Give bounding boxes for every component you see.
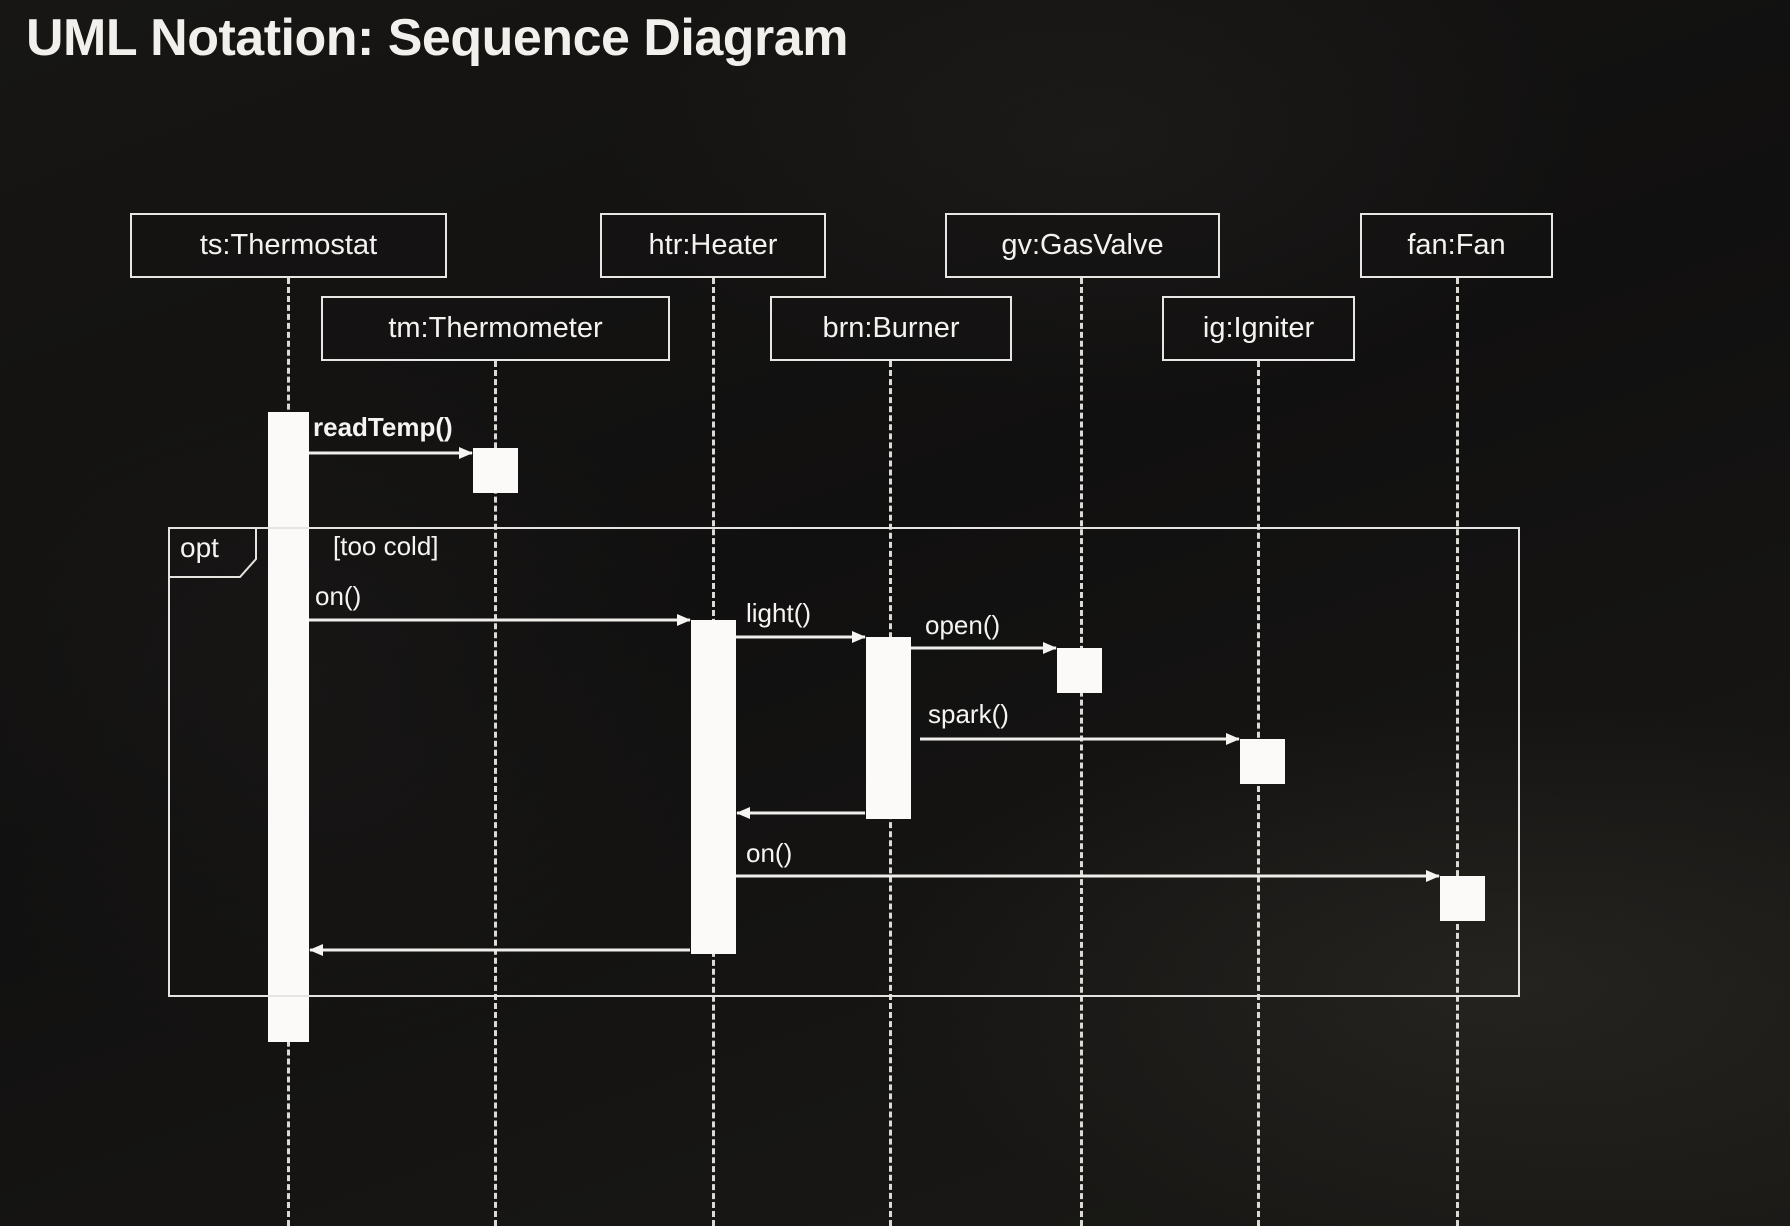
participant-box-fan[interactable]: fan:Fan bbox=[1360, 213, 1553, 278]
page-title: UML Notation: Sequence Diagram bbox=[26, 8, 848, 68]
participant-label-ts: ts:Thermostat bbox=[200, 229, 377, 262]
participant-box-htr[interactable]: htr:Heater bbox=[600, 213, 826, 278]
opt-fragment-frame bbox=[168, 527, 1520, 997]
participant-label-brn: brn:Burner bbox=[822, 312, 959, 345]
participant-box-ig[interactable]: ig:Igniter bbox=[1162, 296, 1355, 361]
participant-box-brn[interactable]: brn:Burner bbox=[770, 296, 1012, 361]
opt-fragment-operator: opt bbox=[180, 532, 219, 564]
opt-fragment-guard: [too cold] bbox=[333, 531, 439, 562]
participant-box-ts[interactable]: ts:Thermostat bbox=[130, 213, 447, 278]
participant-box-gv[interactable]: gv:GasValve bbox=[945, 213, 1220, 278]
participant-label-htr: htr:Heater bbox=[649, 229, 778, 262]
participant-label-tm: tm:Thermometer bbox=[388, 312, 602, 345]
participant-label-fan: fan:Fan bbox=[1407, 229, 1505, 262]
activation-bar-tm[interactable] bbox=[473, 448, 518, 493]
participant-label-gv: gv:GasValve bbox=[1001, 229, 1163, 262]
opt-fragment-tab: opt bbox=[168, 527, 274, 569]
participant-box-tm[interactable]: tm:Thermometer bbox=[321, 296, 670, 361]
message-label-m1: readTemp() bbox=[313, 412, 453, 443]
slide-canvas: UML Notation: Sequence Diagram ts:Thermo… bbox=[0, 0, 1790, 1226]
participant-label-ig: ig:Igniter bbox=[1203, 312, 1314, 345]
